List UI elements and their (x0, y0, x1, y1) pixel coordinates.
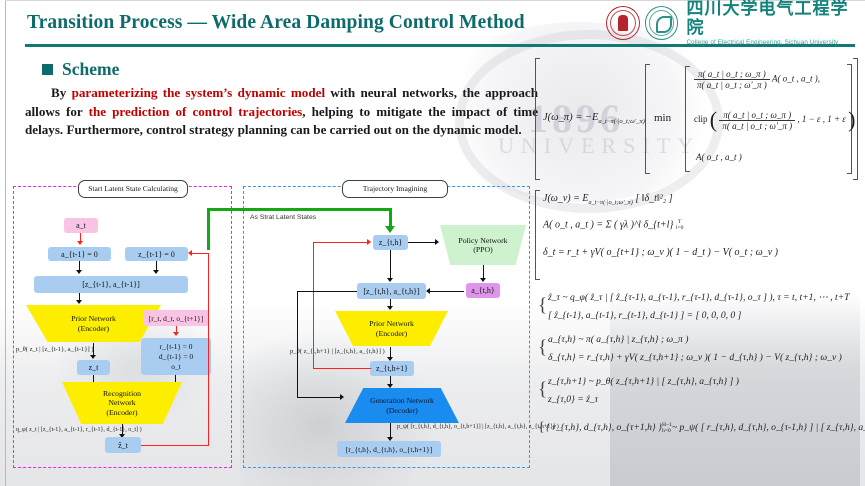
block1-line1: π( a_t | o_t ; ω_π ) π( a_t | o_t ; ω'_π… (694, 69, 820, 90)
block3-brace4: { (538, 420, 545, 436)
green-latent-path-head (385, 226, 395, 233)
page-title: Transition Process — Wide Area Damping C… (27, 12, 525, 34)
block1-line2-tail: , 1 − ε , 1 + ε (797, 114, 846, 124)
arrow-rdo-down-head (173, 332, 179, 336)
block1-mid-bracket-left (645, 64, 651, 174)
block3-l7-tail: ~ p_ψ( [ r_{τ,h}, d_{τ,h}, o_{τ-1,h} ] |… (672, 422, 865, 433)
scheme-heading: Scheme (42, 59, 119, 80)
block3-l1: ẑ_τ ~ q_φ( ẑ_τ | [ ẑ_{τ-1}, a_{τ-1}, r_{… (548, 292, 850, 303)
block3-l6: z_{τ,0} = ẑ_τ (548, 394, 598, 405)
block1-lhs-sub: a_t~π(·|o_t;ω'_π) (598, 118, 645, 125)
block2-eq1: J(ω_v) = Ea_t~π(·|o_t;ω'_π) [ ‖δ_t‖²₂ ] (543, 193, 673, 206)
block1-line2-den: π( a_t | o_t ; ω'_π ) (719, 120, 795, 131)
block2-eq1-rhs: [ ‖δ_t‖²₂ ] (635, 193, 672, 204)
slide-left-border (5, 0, 6, 486)
arrow-za-to-prior-head (76, 300, 82, 304)
node-zhat: ẑ_t (105, 437, 141, 453)
block3-l7-main: { r_{τ,h}, d_{τ,h}, o_{τ+1,h} } (546, 422, 662, 433)
block1-paren-close: ) (848, 107, 855, 132)
block3-l5: z_{τ,h+1} ~ p_θ( z_{τ,h+1} | [ z_{τ,h}, … (548, 376, 739, 387)
square-bullet-icon (42, 64, 53, 75)
policy-line1: Policy Network (458, 236, 507, 245)
gen-feed-bottom (297, 397, 342, 398)
block3-l2: [ ẑ_{t-1}, a_{t-1}, r_{t-1}, d_{t-1} ] =… (548, 310, 741, 321)
node-generation-network: Generation Network (Decoder) (345, 388, 459, 423)
scheme-paragraph: By parameterizing the system’s dynamic m… (25, 84, 538, 140)
node-zth1: z_{t,h+1} (370, 361, 414, 376)
block1-line2-fraction: π( a_t | o_t ; ω_π ) π( a_t | o_t ; ω'_π… (719, 110, 795, 131)
prior-right-line1: Prior Network (369, 319, 414, 328)
block1-outer-bracket-left (535, 58, 541, 180)
block2-eq1-lhs: J(ω_v) = E (543, 193, 588, 204)
math-column: J(ω_π) = −Ea_t~π(·|o_t;ω'_π) min π( a_t … (534, 52, 865, 484)
node-ot: o_t (171, 362, 180, 372)
node-rdo-left: [r_t, d_t, o_{t+1}] (143, 310, 209, 326)
node-at: a_t (64, 218, 98, 233)
block2-sum-bot: l=0 (676, 225, 684, 231)
arrow-zath-to-prior-head (387, 306, 393, 310)
block3-l4: δ_{τ,h} = r_{τ,h} + γV( z_{τ,h+1} ; ω_v … (548, 352, 842, 363)
green-latent-path-down (389, 208, 392, 228)
block1-clip: clip (694, 114, 708, 124)
node-zt: z_t (77, 360, 110, 375)
block2-eq3: δ_t = r_t + γV( o_{t+1} ; ω_v )( 1 − d_t… (543, 247, 778, 258)
loop-zth1-to-zth (313, 242, 369, 243)
block3-brace3: { (538, 379, 547, 401)
node-at-1-zero: a_{t-1} = 0 (48, 247, 111, 261)
loop-zth1-left (313, 368, 371, 369)
node-zth: z_{t,h} (373, 235, 408, 250)
logo-chinese-name: 四川大学电气工程学院 (686, 0, 865, 38)
arrow-ath-to-zath-head (426, 288, 430, 294)
block1-line1-den: π( a_t | o_t ; ω'_π ) (694, 79, 770, 90)
feedback-to-zt1 (192, 253, 209, 254)
node-dt-1-zero: d_{t-1} = 0 (159, 352, 193, 362)
equation-prior-right: p_θ( z_{t,h+1} | [z_{t,h}, a_{t,h}] ) (290, 348, 385, 355)
node-ath: a_{t,h} (466, 283, 500, 298)
block1-line1-num: π( a_t | o_t ; ω_π ) (694, 69, 770, 79)
arrow-policy-to-ath-head (480, 278, 486, 282)
left-panel-header: Start Latent State Calculating (78, 180, 188, 198)
scheme-label: Scheme (62, 59, 119, 80)
arrow-zth-to-policy-head (435, 239, 439, 245)
recognition-line3: (Encoder) (106, 408, 137, 417)
block1-lhs-text: J(ω_π) = −E (543, 112, 598, 123)
green-latent-path-h (207, 208, 392, 211)
block1-line1-tail: A( o_t , a_t ), (772, 74, 820, 84)
equation-prior-left: p_θ( z_t | [z_{t-1}, a_{t-1}] ) (16, 346, 94, 353)
college-teal-seal-icon (645, 6, 679, 40)
node-rt-1-zero: r_{t-1} = 0 (159, 342, 192, 352)
node-rd-zero-group: r_{t-1} = 0 d_{t-1} = 0 o_t (141, 338, 211, 375)
recognition-line2: Network (108, 398, 135, 407)
block1-line2-num: π( a_t | o_t ; ω_π ) (719, 110, 795, 120)
connector-ath-to-zath (430, 291, 464, 292)
arrow-zt1-down-head (153, 270, 159, 274)
connector-zth-to-policy (408, 242, 437, 243)
prior-network-line1: Prior Network (71, 314, 116, 323)
prior-right-line2: (Encoder) (376, 329, 407, 338)
gen-feed-vertical (297, 291, 298, 398)
generation-line2: (Decoder) (386, 406, 418, 415)
gen-feed-head (340, 394, 344, 400)
recognition-line1: Recognition (103, 389, 141, 398)
feedback-to-zt1-head (188, 250, 192, 256)
block2-bracket (535, 190, 541, 280)
par-seg1: By (51, 85, 72, 100)
node-zt-1-zero: z_{t-1} = 0 (125, 247, 188, 261)
arrow-prior-to-zt-head (90, 355, 96, 359)
block3-brace2: { (538, 337, 547, 359)
logo-text: 四川大学电气工程学院 College of Electrical Enginee… (686, 0, 865, 47)
generation-line1: Generation Network (370, 396, 434, 405)
block3-l7-sub: h=0 (662, 428, 672, 434)
block3-l7: { r_{τ,h}, d_{τ,h}, o_{τ+1,h} }H−1h=0~ p… (546, 422, 865, 434)
block1-paren-open: ( (710, 107, 717, 132)
node-prior-network-left: Prior Network (Encoder) (26, 305, 161, 342)
block2-eq2: A( o_t , a_t ) = Σ ( γλ )^l δ_{t+l} T l=… (543, 219, 683, 231)
block3-l7-limits: H−1h=0 (662, 422, 672, 434)
slide-canvas: 1896 UNIVERSITY Transition Process — Wid… (0, 0, 865, 486)
block3-brace1: { (538, 295, 547, 317)
par-highlight2: the prediction of control trajectories (89, 104, 303, 119)
block2-eq1-sub: a_t~π(·|o_t;ω'_π) (588, 199, 632, 206)
block1-line3: A( o_t , a_t ) (696, 152, 742, 162)
gen-feed-top (297, 291, 357, 292)
node-recognition-network: Recognition Network (Encoder) (62, 382, 182, 424)
feedback-zhat-right (141, 445, 209, 446)
label-as-start-latent-states: As Strat Latent States (250, 214, 316, 221)
logo-group: 四川大学电气工程学院 College of Electrical Enginee… (606, 5, 865, 41)
par-highlight1: parameterizing the system’s dynamic mode… (72, 85, 326, 100)
block1-line1-fraction: π( a_t | o_t ; ω_π ) π( a_t | o_t ; ω'_π… (694, 69, 770, 90)
block1-inner-bracket (685, 66, 691, 172)
node-prior-network-right: Prior Network (Encoder) (335, 311, 448, 346)
arrow-zth-down-head (387, 278, 393, 282)
block3-l3: a_{τ,h} ~ π( a_{τ,h} | z_{τ,h} ; ω_π ) (548, 334, 688, 345)
sichuan-university-red-seal-icon (606, 6, 640, 40)
prior-network-line2: (Encoder) (78, 324, 109, 333)
right-panel-header: Trajectory Imagining (342, 180, 448, 198)
block1-lhs: J(ω_π) = −Ea_t~π(·|o_t;ω'_π) (543, 112, 645, 125)
arrow-at-to-at1-head (77, 241, 83, 245)
arrow-zth1-to-gen-head (387, 384, 393, 388)
node-policy-network: Policy Network (PPO) (440, 225, 526, 265)
node-zath-concat: [z_{t,h}, a_{t,h}] (357, 283, 426, 299)
loop-zth1-to-zth-head (367, 239, 371, 245)
block2-eq2-text: A( o_t , a_t ) = Σ ( γλ )^l δ_{t+l} (543, 219, 673, 230)
block2-sum-limits: T l=0 (676, 219, 684, 231)
green-latent-path-left (207, 208, 210, 250)
node-rdo-output: [r_{t,h}, d_{t,h}, o_{t,h+1}] (337, 441, 441, 457)
loop-zth1-up (313, 242, 314, 369)
block1-line2: clip ( π( a_t | o_t ; ω_π ) π( a_t | o_t… (694, 107, 855, 133)
feedback-vertical (208, 254, 209, 446)
arrow-at1-down-head (76, 270, 82, 274)
block1-min: min (654, 112, 671, 124)
logo-english-name: College of Electrical Engineering, Sichu… (686, 38, 865, 47)
connector-zth-down (390, 250, 391, 281)
node-za-concat: [z_{t-1}, a_{t-1}] (34, 276, 188, 293)
policy-line2: (PPO) (473, 245, 493, 254)
